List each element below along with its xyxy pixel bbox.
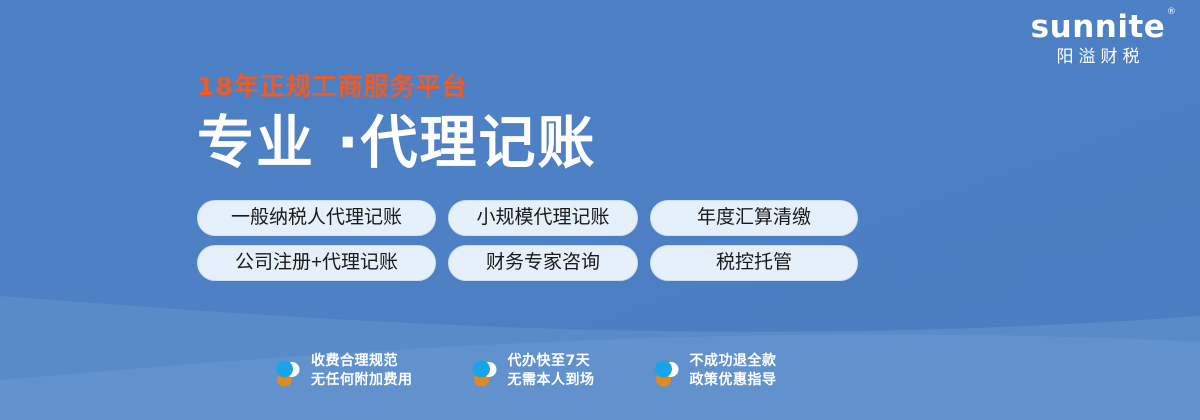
brand-wordmark: sunnite ® [1031,10,1166,44]
service-pill[interactable]: 年度汇算清缴 [650,200,858,236]
feature-item: 代办快至7天 无需本人到场 [469,352,595,390]
feature-text: 收费合理规范 无任何附加费用 [311,352,413,390]
service-pill-row-2: 公司注册+代理记账 财务专家咨询 税控托管 [197,245,858,281]
hero-eyebrow: 18年正规工商服务平台 [197,72,957,102]
hero-copy: 18年正规工商服务平台 专业 ·代理记账 [197,72,957,176]
service-pill-list: 一般纳税人代理记账 小规模代理记账 年度汇算清缴 公司注册+代理记账 财务专家咨… [197,200,858,290]
feature-line-1: 不成功退全款 [690,353,777,369]
feature-line-1: 代办快至7天 [508,353,591,369]
service-pill[interactable]: 财务专家咨询 [448,245,638,281]
service-pill[interactable]: 税控托管 [650,245,858,281]
registered-trademark-icon: ® [1167,8,1177,17]
dot-badge-icon [272,355,302,387]
brand-logo[interactable]: sunnite ® 阳溢财税 [1018,10,1178,68]
promo-banner: sunnite ® 阳溢财税 18年正规工商服务平台 专业 ·代理记账 一般纳税… [0,0,1200,420]
feature-line-2: 政策优惠指导 [690,371,777,390]
feature-text: 代办快至7天 无需本人到场 [508,352,595,390]
service-pill[interactable]: 一般纳税人代理记账 [197,200,436,236]
feature-item: 收费合理规范 无任何附加费用 [272,352,413,390]
feature-line-2: 无任何附加费用 [311,371,413,390]
service-pill[interactable]: 公司注册+代理记账 [197,245,436,281]
feature-text: 不成功退全款 政策优惠指导 [690,352,777,390]
brand-name-cn: 阳溢财税 [1018,46,1178,68]
dot-badge-icon [651,355,681,387]
service-pill[interactable]: 小规模代理记账 [448,200,638,236]
service-pill-row-1: 一般纳税人代理记账 小规模代理记账 年度汇算清缴 [197,200,858,236]
feature-line-2: 无需本人到场 [508,371,595,390]
feature-line-1: 收费合理规范 [311,353,398,369]
brand-wordmark-text: sunnite [1031,9,1166,45]
feature-item: 不成功退全款 政策优惠指导 [651,352,777,390]
hero-headline: 专业 ·代理记账 [197,110,957,176]
dot-badge-icon [469,355,499,387]
feature-list: 收费合理规范 无任何附加费用 代办快至7天 无需本人到场 [272,352,777,390]
